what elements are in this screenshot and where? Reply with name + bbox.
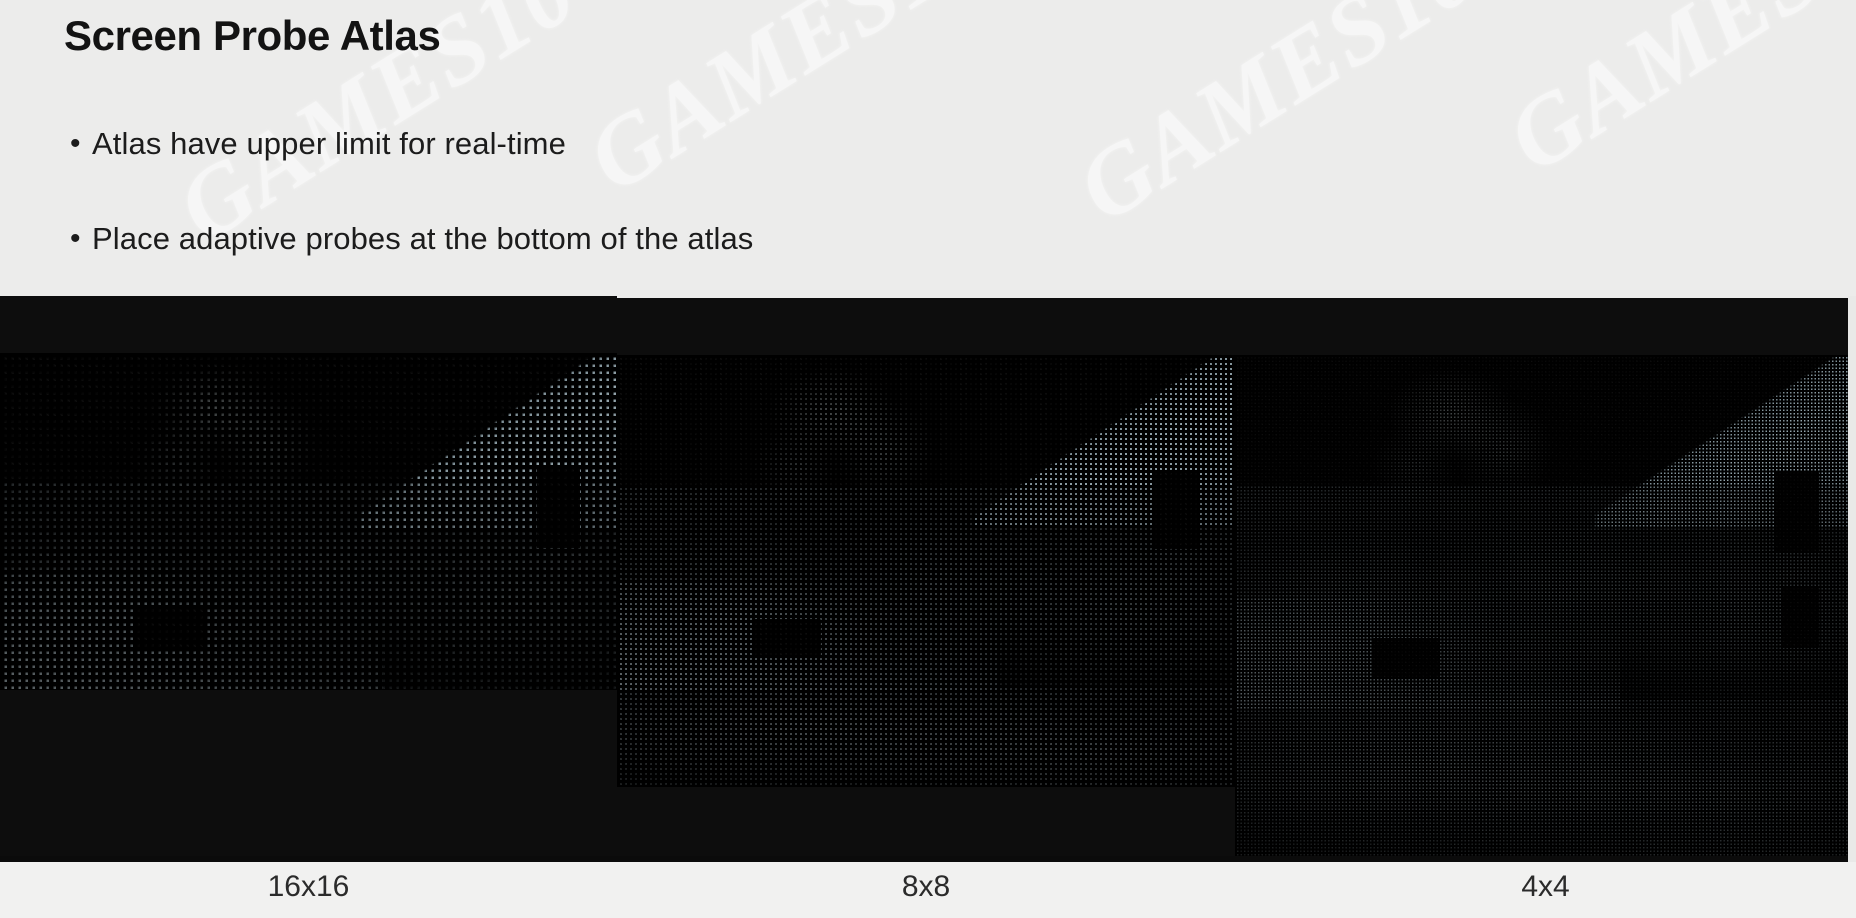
caption-16x16: 16x16 bbox=[0, 870, 617, 904]
caption-4x4: 4x4 bbox=[1235, 870, 1856, 904]
probe-grid-overlay bbox=[617, 355, 1235, 787]
caption-row: 16x16 8x8 4x4 bbox=[0, 862, 1856, 918]
atlas-image-16x16 bbox=[0, 353, 617, 690]
caption-8x8: 8x8 bbox=[617, 870, 1235, 904]
bullet-list: • Atlas have upper limit for real-time •… bbox=[70, 124, 1470, 314]
atlas-image-4x4 bbox=[1235, 355, 1856, 860]
atlas-panel-16x16 bbox=[0, 296, 617, 862]
list-item: • Place adaptive probes at the bottom of… bbox=[70, 219, 1470, 259]
panel-top-gap bbox=[617, 296, 1235, 298]
slide-root: GAMES104 GAMES104 GAMES104 GAMES104 Scre… bbox=[0, 0, 1856, 918]
bullet-text: Atlas have upper limit for real-time bbox=[92, 124, 566, 164]
bullet-dot-icon: • bbox=[70, 219, 92, 259]
figure-right-edge bbox=[1848, 296, 1856, 862]
probe-atlas-figure bbox=[0, 296, 1856, 862]
panel-top-gap bbox=[1235, 296, 1856, 298]
slide-header: Screen Probe Atlas • Atlas have upper li… bbox=[0, 0, 1856, 296]
probe-grid-overlay bbox=[0, 353, 617, 690]
atlas-image-8x8 bbox=[617, 355, 1235, 787]
bullet-text: Place adaptive probes at the bottom of t… bbox=[92, 219, 753, 259]
page-title: Screen Probe Atlas bbox=[64, 12, 440, 60]
bullet-dot-icon: • bbox=[70, 124, 92, 164]
atlas-panel-8x8 bbox=[617, 296, 1235, 862]
atlas-panel-4x4 bbox=[1235, 296, 1856, 862]
list-item: • Atlas have upper limit for real-time bbox=[70, 124, 1470, 164]
probe-grid-overlay bbox=[1235, 355, 1856, 860]
